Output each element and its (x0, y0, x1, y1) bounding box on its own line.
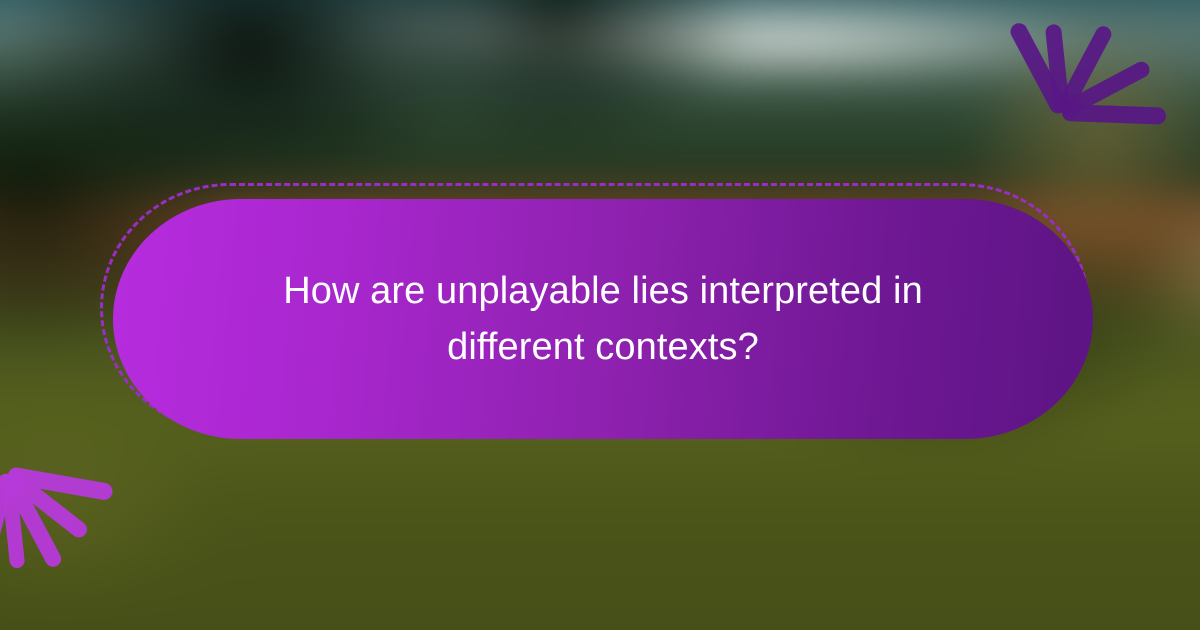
page-title: How are unplayable lies interpreted in d… (273, 263, 933, 375)
sparkle-ray (1062, 104, 1167, 125)
share-card-canvas: How are unplayable lies interpreted in d… (0, 0, 1200, 630)
question-card: How are unplayable lies interpreted in d… (113, 199, 1093, 439)
